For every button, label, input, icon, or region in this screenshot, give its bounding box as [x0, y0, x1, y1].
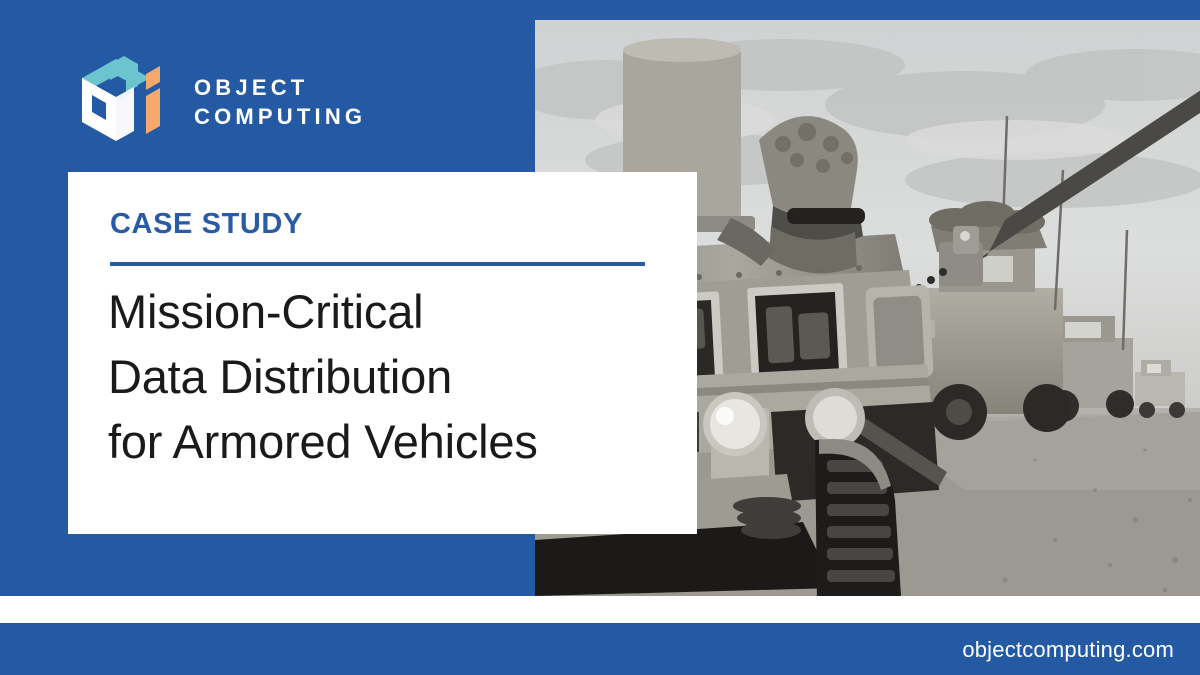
divider-rule [110, 262, 645, 266]
wordmark-line-2: COMPUTING [194, 106, 366, 128]
kicker-label: CASE STUDY [110, 210, 303, 239]
footer-website-url[interactable]: objectcomputing.com [962, 637, 1174, 663]
title-line-3: for Armored Vehicles [108, 410, 688, 475]
wordmark-line-1: OBJECT [194, 77, 366, 99]
title-line-1: Mission-Critical [108, 280, 688, 345]
footer-bar: objectcomputing.com [0, 623, 1200, 675]
logo-wordmark: OBJECT COMPUTING [194, 73, 366, 128]
title-line-2: Data Distribution [108, 345, 688, 410]
content-card: CASE STUDY Mission-Critical Data Distrib… [68, 172, 697, 534]
footer-spacer [0, 596, 1200, 623]
brand-logo[interactable]: OBJECT COMPUTING [76, 52, 366, 148]
page-title: Mission-Critical Data Distribution for A… [108, 280, 688, 475]
case-study-cover-slide: OBJECT COMPUTING CASE STUDY Mission-Crit… [0, 0, 1200, 675]
object-computing-cube-icon [76, 52, 174, 148]
